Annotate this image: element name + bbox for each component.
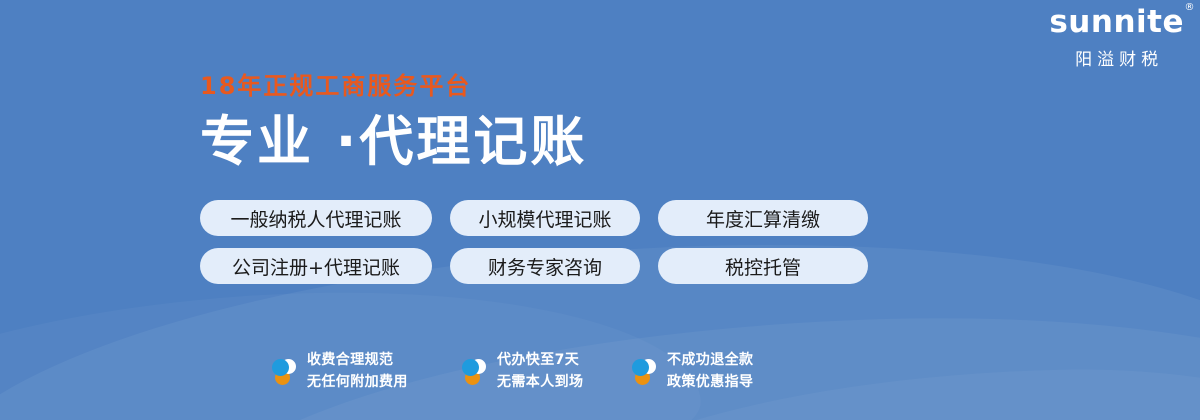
logo-chinese-name: 阳溢财税 (1049, 45, 1184, 70)
background-wave-shape (0, 265, 707, 420)
feature-line-1: 代办快至7天 (497, 350, 583, 372)
badge-dot-blue (632, 359, 649, 376)
feature-item: 代办快至7天 无需本人到场 (462, 350, 632, 393)
service-tag-list: 一般纳税人代理记账 小规模代理记账 年度汇算清缴 公司注册+代理记账 财务专家咨… (200, 200, 868, 284)
feature-text: 不成功退全款 政策优惠指导 (667, 350, 753, 393)
three-dot-badge-icon (462, 356, 488, 388)
service-tag-label: 财务专家咨询 (488, 253, 602, 280)
service-tag-pill[interactable]: 税控托管 (658, 248, 868, 284)
logo-wordmark-text: sunnite (1049, 4, 1184, 40)
feature-line-2: 政策优惠指导 (667, 372, 753, 394)
logo-wordmark: sunnite® (1049, 6, 1184, 39)
badge-dot-blue (272, 359, 289, 376)
page-title: 专业 ·代理记账 (200, 111, 587, 173)
service-tag-pill[interactable]: 一般纳税人代理记账 (200, 200, 432, 236)
three-dot-badge-icon (272, 356, 298, 388)
service-tag-label: 公司注册+代理记账 (232, 253, 400, 280)
service-tag-label: 年度汇算清缴 (706, 205, 820, 232)
feature-text: 收费合理规范 无任何附加费用 (307, 350, 408, 393)
badge-dot-blue (462, 359, 479, 376)
feature-highlight-list: 收费合理规范 无任何附加费用 代办快至7天 无需本人到场 不成功退全款 (272, 350, 832, 393)
registered-trademark-icon: ® (1185, 3, 1196, 14)
feature-item: 不成功退全款 政策优惠指导 (632, 350, 832, 393)
service-tag-label: 小规模代理记账 (478, 205, 611, 232)
service-tag-pill[interactable]: 公司注册+代理记账 (200, 248, 432, 284)
service-tag-label: 一般纳税人代理记账 (230, 205, 401, 232)
service-tag-pill[interactable]: 财务专家咨询 (450, 248, 640, 284)
feature-item: 收费合理规范 无任何附加费用 (272, 350, 462, 393)
service-tag-pill[interactable]: 年度汇算清缴 (658, 200, 868, 236)
feature-line-2: 无需本人到场 (497, 372, 583, 394)
brand-logo[interactable]: sunnite® 阳溢财税 (1049, 6, 1184, 70)
feature-text: 代办快至7天 无需本人到场 (497, 350, 583, 393)
feature-line-2: 无任何附加费用 (307, 372, 408, 394)
feature-line-1: 收费合理规范 (307, 350, 408, 372)
eyebrow-text: 18年正规工商服务平台 (200, 72, 587, 101)
promo-banner: sunnite® 阳溢财税 18年正规工商服务平台 专业 ·代理记账 一般纳税人… (0, 0, 1200, 420)
feature-line-1: 不成功退全款 (667, 350, 753, 372)
three-dot-badge-icon (632, 356, 658, 388)
headline-block: 18年正规工商服务平台 专业 ·代理记账 (200, 72, 587, 173)
service-tag-pill[interactable]: 小规模代理记账 (450, 200, 640, 236)
service-tag-label: 税控托管 (725, 253, 801, 280)
